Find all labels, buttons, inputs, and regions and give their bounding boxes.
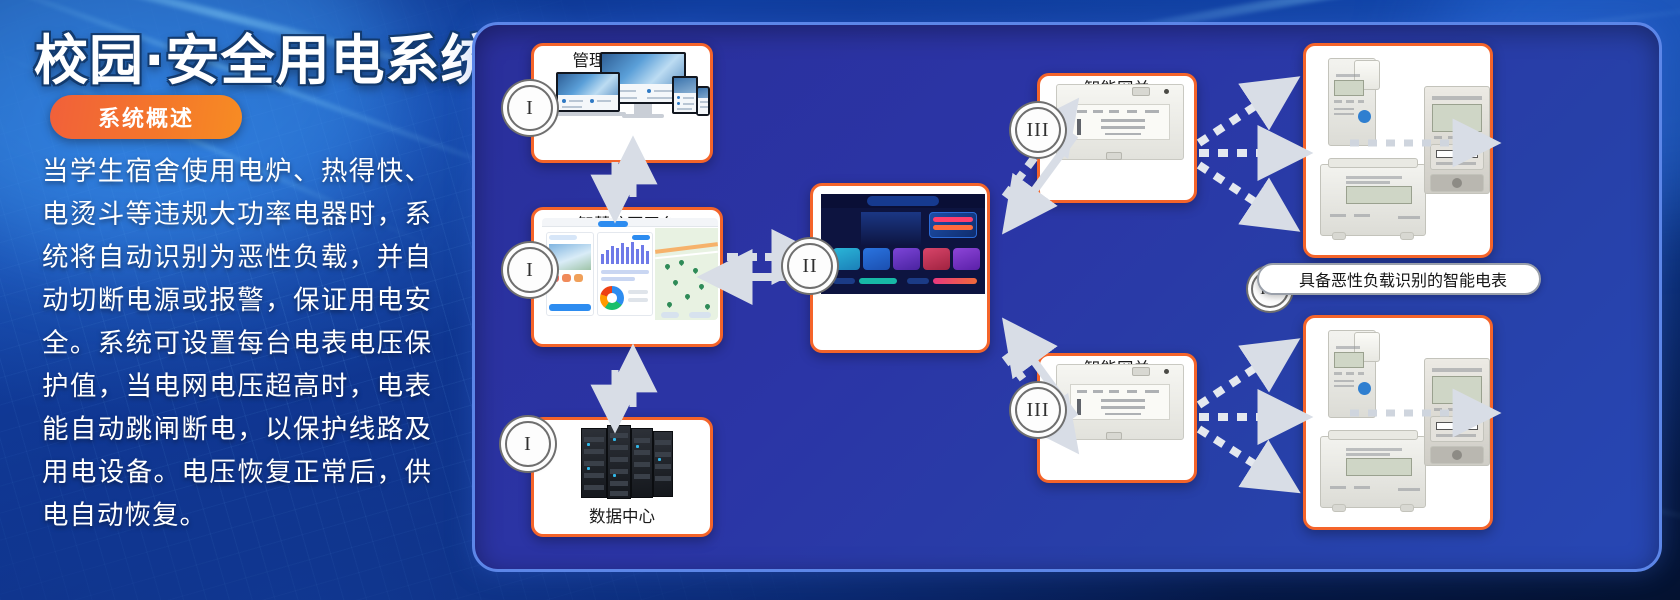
meter-callout-bar[interactable]: 具备恶性负载识别的智能电表 (1257, 263, 1541, 295)
numeral-badge-i-management: I (507, 85, 553, 131)
meter-callout-label: 具备恶性负载识别的智能电表 (1299, 267, 1507, 291)
architecture-diagram: 管理及移动端 I (472, 22, 1662, 572)
numeral-badge-i-platform: I (507, 247, 553, 293)
numeral-badge-ii-iot: II (787, 243, 833, 289)
section-badge-system-overview: 系统概述 (50, 95, 242, 139)
overview-panel: 校园·安全用电系统 系统概述 当学生宿舍使用电炉、热得快、电烫斗等违规大功率电器… (0, 0, 470, 600)
overview-paragraph: 当学生宿舍使用电炉、热得快、电烫斗等违规大功率电器时，系统将自动识别为恶性负载，… (42, 150, 432, 537)
arrow-management-to-platform (615, 162, 633, 197)
numeral-badge-i-datacenter: I (505, 421, 551, 467)
arrow-gateway-bottom-to-meters (1199, 355, 1283, 477)
arrow-gateway-top-to-meters (1199, 93, 1283, 215)
page-title: 校园·安全用电系统 (34, 16, 496, 95)
numeral-badge-iii-gateway-bottom: III (1015, 387, 1061, 433)
connector-arrows (475, 25, 1665, 575)
arrow-platform-to-datacenter (615, 370, 633, 407)
numeral-badge-iii-gateway-top: III (1015, 107, 1061, 153)
